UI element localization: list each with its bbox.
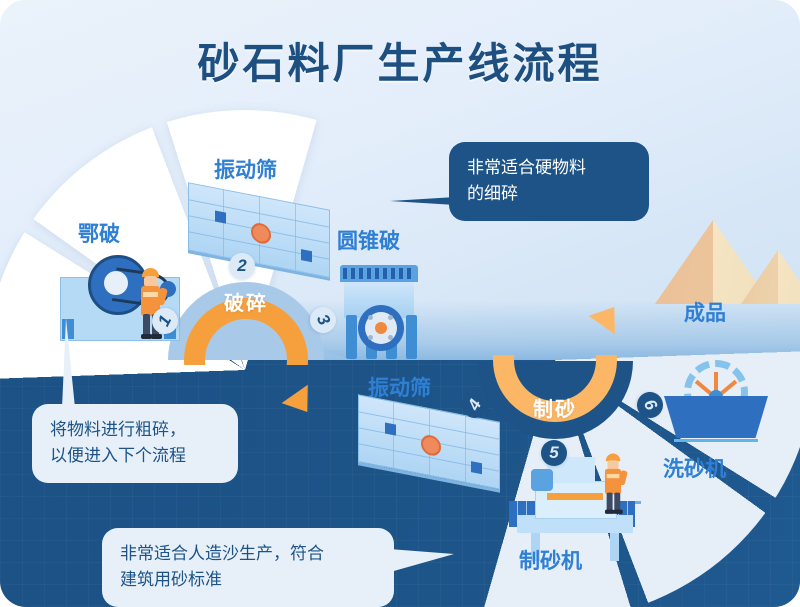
callout-cone-crusher[interactable]: 非常适合硬物料 的细碎 [449, 142, 649, 221]
infographic-canvas: 砂石料厂生产线流程 破碎 制砂 鄂破 1 振动筛 [0, 0, 800, 607]
callout-jaw-line1: 将物料进行粗碎， [50, 417, 220, 443]
node-label-jaw-crusher: 鄂破 [78, 218, 120, 248]
step-number-5: 5 [541, 440, 567, 466]
node-label-sand-making-machine: 制砂机 [519, 545, 582, 575]
callout-tail-jaw [62, 318, 75, 408]
callout-jaw-line2: 以便进入下个流程 [50, 443, 220, 469]
callout-sand-line2: 建筑用砂标准 [120, 567, 376, 593]
sand-making-stage-label: 制砂 [509, 393, 601, 422]
step-number-2: 2 [229, 253, 255, 279]
worker-figure-icon-2 [602, 454, 629, 517]
cone-crusher-icon [336, 265, 426, 355]
node-label-sand-washer: 洗砂机 [663, 453, 726, 483]
sand-washer-icon [656, 360, 776, 450]
node-label-finished-product: 成品 [684, 297, 726, 327]
callout-sand-line1: 非常适合人造沙生产，符合 [120, 541, 376, 567]
callout-sand-making[interactable]: 非常适合人造沙生产，符合 建筑用砂标准 [102, 528, 394, 607]
vibrating-screen-icon-2 [358, 408, 500, 476]
callout-jaw-crusher[interactable]: 将物料进行粗碎， 以便进入下个流程 [32, 404, 238, 483]
callout-cone-line1: 非常适合硬物料 [467, 155, 631, 181]
node-label-vibrating-screen-1: 振动筛 [214, 154, 277, 184]
node-label-cone-crusher: 圆锥破 [337, 225, 400, 255]
finished-product-piles-icon [655, 220, 800, 310]
page-title: 砂石料厂生产线流程 [0, 30, 800, 91]
crushing-stage-label: 破碎 [200, 287, 292, 316]
callout-cone-line2: 的细碎 [467, 181, 631, 207]
vibrating-screen-icon-1 [188, 196, 330, 264]
